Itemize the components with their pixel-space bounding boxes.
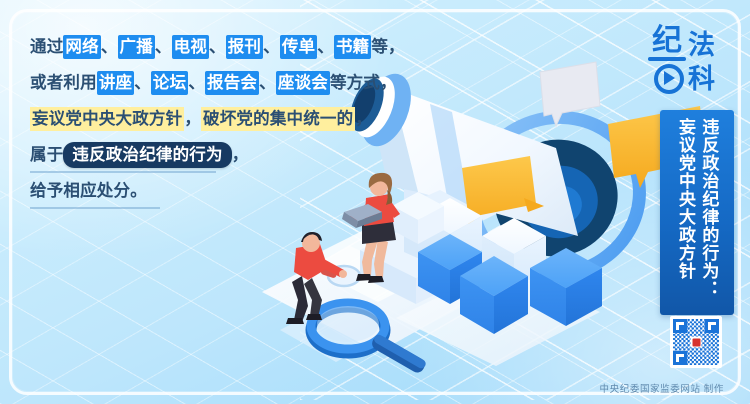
qr-finder-top-left (673, 319, 687, 333)
play-icon (664, 71, 675, 85)
pill-weifan-zhengzhi-jilv: 违反政治纪律的行为 (63, 142, 231, 168)
copy-line-2: 或者利用讲座、论坛、报告会、座谈会等方式， (30, 66, 430, 100)
highlight-luntan: 论坛 (151, 71, 188, 95)
person-with-magnifier (286, 232, 347, 324)
logo-char-fa: 法 (688, 32, 715, 59)
copy-l1-sep4: 、 (263, 37, 280, 56)
copy-l2-sep1: 、 (134, 73, 151, 92)
copy-l1-sep3: 、 (209, 37, 226, 56)
copy-l4-seg1: 属于 (30, 145, 63, 164)
vertical-title-right: 违反政治纪律的行为： (699, 118, 718, 307)
copy-l5-seg1: 给予相应处分。 (30, 181, 147, 200)
qr-code[interactable] (670, 316, 722, 368)
speech-bubble-icon-yellow-left (462, 156, 544, 230)
highlight-wangluo: 网络 (63, 35, 100, 59)
qr-finder-top-right (705, 319, 719, 333)
logo-char-ke: 科 (688, 66, 715, 93)
highlight-baogaohui: 报告会 (205, 71, 259, 95)
vertical-title-panel: 违反政治纪律的行为： 妄议党中央大政方针 (660, 110, 734, 315)
highlight-shuji: 书籍 (334, 35, 371, 59)
copy-l2-sep3: 、 (259, 73, 276, 92)
copy-line-1: 通过网络、广播、电视、报刊、传单、书籍等， (30, 30, 430, 64)
speech-bubble-icon-white (540, 62, 600, 126)
copy-l1-sep5: 、 (317, 37, 334, 56)
copy-l3-tail: ， (355, 109, 372, 128)
producer-credit: 中央纪委国家监委网站 制作 (600, 381, 724, 395)
copy-l1-tail: 等， (371, 37, 404, 56)
copy-l2-sep2: 、 (188, 73, 205, 92)
copy-l1-seg1: 通过 (30, 37, 63, 56)
magnifier-icon-small (320, 266, 360, 286)
copy-l2-tail: 等方式， (330, 73, 397, 92)
copy-l3-sep1: ， (184, 109, 201, 128)
highlight-zuotanhui: 座谈会 (276, 71, 330, 95)
poster-canvas: 通过网络、广播、电视、报刊、传单、书籍等， 或者利用讲座、论坛、报告会、座谈会等… (0, 0, 750, 404)
copy-line-3: 妄议党中央大政方针，破坏党的集中统一的， (30, 102, 430, 136)
highlight-guangbo: 广播 (118, 35, 155, 59)
logo-underline-bar (648, 57, 686, 61)
highlight-pohuai-tongyi: 破坏党的集中统一的 (201, 107, 355, 131)
copy-l4-tail: ， (232, 145, 249, 164)
ground-paper (262, 226, 600, 366)
highlight-wangyi-fangzhen: 妄议党中央大政方针 (30, 107, 184, 131)
highlight-jiangzuo: 讲座 (97, 71, 134, 95)
isometric-cubes (392, 192, 602, 334)
qr-finder-bottom-left (673, 351, 687, 365)
logo-char-ji: 纪 (652, 26, 682, 56)
copy-l1-sep1: 、 (101, 37, 118, 56)
highlight-dianshi: 电视 (172, 35, 209, 59)
highlight-chuandan: 传单 (280, 35, 317, 59)
copy-line-5: 给予相应处分。 (30, 174, 430, 208)
vertical-title-left: 妄议党中央大政方针 (676, 118, 695, 307)
brand-logo-grid: 纪 法 百 科 (648, 24, 744, 106)
brand-logo[interactable]: 纪 法 百 科 (648, 24, 744, 106)
body-copy: 通过网络、广播、电视、报刊、传单、书籍等， 或者利用讲座、论坛、报告会、座谈会等… (30, 30, 430, 210)
copy-l2-seg1: 或者利用 (30, 73, 97, 92)
qr-code-pattern (673, 319, 719, 365)
copy-line-4: 属于违反政治纪律的行为， (30, 138, 430, 172)
copy-l1-sep2: 、 (155, 37, 172, 56)
qr-center-logo (691, 337, 702, 348)
magnifier-icon-large (311, 303, 427, 375)
highlight-baokan: 报刊 (226, 35, 263, 59)
